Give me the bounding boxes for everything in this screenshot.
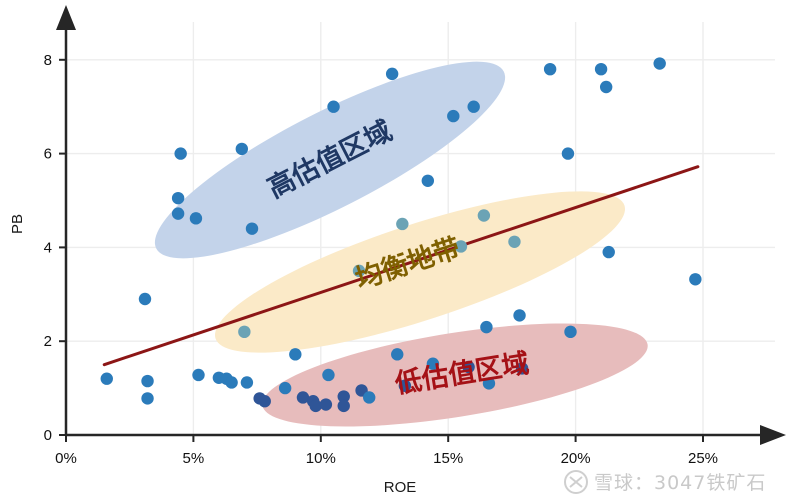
y-tick-label: 6 (44, 146, 52, 163)
data-point (279, 382, 291, 394)
x-axis-arrow-icon (760, 425, 786, 445)
xueqiu-logo-mark-icon (570, 477, 582, 487)
data-point (508, 236, 520, 248)
data-point (595, 63, 607, 75)
x-tick-label: 15% (433, 450, 463, 467)
chart-svg: 高估值区域均衡地带低估值区域 0%5%10%15%20%25% 02468 RO… (0, 0, 800, 504)
data-point (689, 273, 701, 285)
x-tick-label: 25% (688, 450, 718, 467)
data-point (174, 147, 186, 159)
data-point (172, 192, 184, 204)
data-point (363, 391, 375, 403)
data-point (322, 369, 334, 381)
data-point (386, 68, 398, 80)
data-point (480, 321, 492, 333)
data-point (141, 375, 153, 387)
data-point (603, 246, 615, 258)
watermark: 雪球：3047铁矿石 (565, 471, 766, 494)
data-point (238, 326, 250, 338)
data-point (139, 293, 151, 305)
x-axis-title: ROE (384, 479, 417, 496)
data-point (172, 207, 184, 219)
data-point (101, 373, 113, 385)
data-point (422, 175, 434, 187)
data-point (338, 400, 350, 412)
data-point (467, 101, 479, 113)
data-point (192, 369, 204, 381)
data-point (562, 147, 574, 159)
x-tick-label: 10% (306, 450, 336, 467)
data-point (391, 348, 403, 360)
data-point (259, 395, 271, 407)
y-axis-ticks-group: 02468 (44, 52, 66, 444)
x-tick-label: 20% (561, 450, 591, 467)
y-axis-title: PB (9, 214, 26, 234)
data-point (225, 376, 237, 388)
watermark-text: 雪球：3047铁矿石 (594, 472, 766, 494)
data-point (236, 143, 248, 155)
y-tick-label: 8 (44, 52, 52, 69)
data-point (190, 212, 202, 224)
data-point (544, 63, 556, 75)
y-axis-arrow-icon (56, 5, 76, 30)
data-point (513, 309, 525, 321)
data-point (320, 398, 332, 410)
y-tick-label: 0 (44, 427, 52, 444)
data-point (289, 348, 301, 360)
x-tick-label: 5% (183, 450, 205, 467)
y-tick-label: 2 (44, 333, 52, 350)
data-point (447, 110, 459, 122)
y-tick-label: 4 (44, 239, 52, 256)
data-point (653, 57, 665, 69)
data-point (241, 376, 253, 388)
data-point (564, 326, 576, 338)
data-point (327, 101, 339, 113)
data-point (396, 218, 408, 230)
data-point (141, 392, 153, 404)
scatter-chart-figure: 高估值区域均衡地带低估值区域 0%5%10%15%20%25% 02468 RO… (0, 0, 800, 504)
data-point (600, 81, 612, 93)
x-tick-label: 0% (55, 450, 77, 467)
data-point (478, 209, 490, 221)
x-axis-ticks-group: 0%5%10%15%20%25% (55, 435, 718, 467)
data-point (246, 222, 258, 234)
